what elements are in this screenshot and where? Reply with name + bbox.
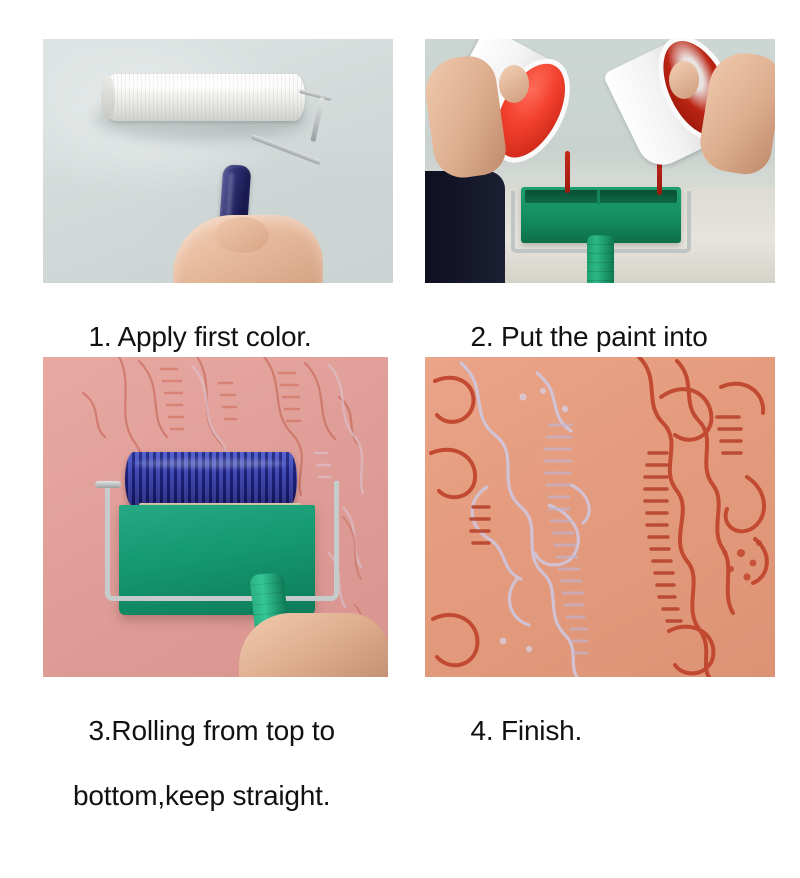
- step-3-caption-line2: bottom,keep straight.: [43, 780, 388, 812]
- paint-roller-nap: [105, 74, 305, 121]
- step-1-caption-line1: 1. Apply first color.: [88, 321, 311, 352]
- step-3-photo: [43, 357, 388, 677]
- step-4-caption-line1: 4. Finish.: [470, 715, 582, 746]
- paint-drip-left: [565, 151, 570, 193]
- step-3-caption-line1: 3.Rolling from top to: [88, 715, 334, 746]
- finished-damask-pattern: [425, 357, 775, 677]
- fingers-left: [499, 65, 529, 103]
- step-4-block: 4. Finish.: [425, 357, 775, 780]
- machine-metal-frame: [105, 481, 339, 601]
- instruction-sheet: 1. Apply first color.: [0, 0, 800, 800]
- step-4-caption: 4. Finish.: [425, 683, 775, 780]
- step-1-block: 1. Apply first color.: [43, 39, 393, 386]
- hand: [239, 613, 388, 677]
- step-1-photo: [43, 39, 393, 283]
- step-2-photo: [425, 39, 775, 283]
- roller-axle-knob: [95, 481, 121, 488]
- thumb: [215, 217, 269, 253]
- sleeve-arm: [425, 171, 505, 283]
- step-4-photo: [425, 357, 775, 677]
- step-3-caption: 3.Rolling from top to bottom,keep straig…: [43, 683, 388, 878]
- fingers-right: [669, 61, 699, 99]
- step-2-caption-line1: 2. Put the paint into: [470, 321, 707, 352]
- tray-handle: [587, 235, 614, 283]
